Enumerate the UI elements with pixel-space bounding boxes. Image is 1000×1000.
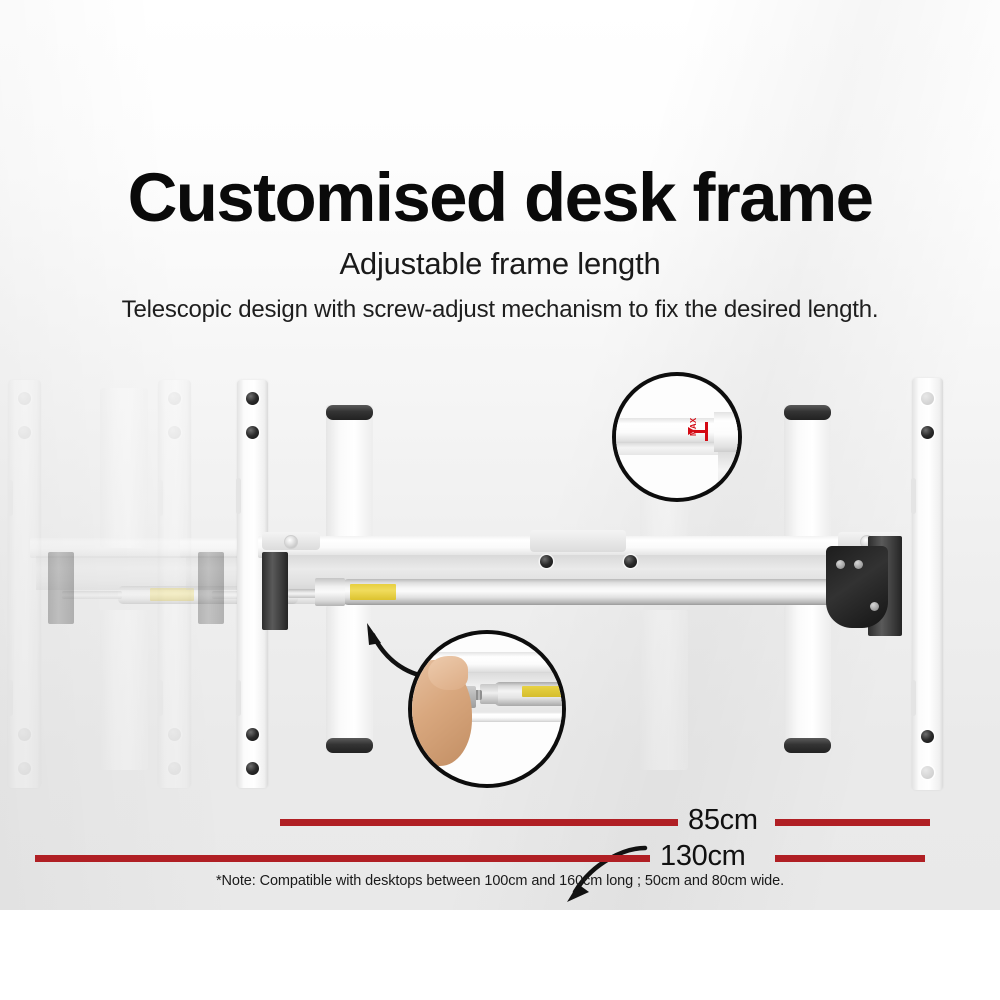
hinge-knuckle-center	[530, 530, 626, 552]
page-tagline: Telescopic design with screw-adjust mech…	[0, 298, 1000, 322]
compatibility-note: *Note: Compatible with desktops between …	[0, 873, 1000, 889]
detail-warning-label	[522, 686, 566, 697]
beam-bolt-right	[624, 555, 637, 568]
leg-top-right	[784, 405, 831, 553]
dimension-line-85-left	[280, 819, 678, 826]
callout-max-extension: MAX	[612, 372, 742, 502]
ghost-leg-4	[640, 610, 688, 770]
foot-pad-bottom-right	[784, 738, 831, 753]
dimension-label-85: 85cm	[688, 806, 758, 835]
max-tick-bar	[705, 422, 708, 441]
warning-label-yellow	[350, 584, 396, 600]
foot-pad-bottom-left	[326, 738, 373, 753]
foot-pad-top-right	[784, 405, 831, 420]
bracket-right	[912, 378, 943, 790]
end-plate-left	[262, 552, 288, 630]
white-footer-area	[0, 910, 1000, 1000]
dimension-label-130: 130cm	[660, 842, 746, 871]
hinge-knuckle-left	[262, 532, 320, 550]
tube-collar	[315, 578, 345, 606]
page-title: Customised desk frame	[0, 163, 1000, 232]
ghost-end-plate-1	[48, 552, 74, 624]
dimension-line-130-left	[35, 855, 650, 862]
ghost-end-plate-2	[198, 552, 224, 624]
product-marketing-image: Customised desk frame Adjustable frame l…	[0, 0, 1000, 1000]
leg-top-left	[326, 405, 373, 553]
leg-bottom-right	[784, 605, 831, 753]
dimension-line-130-right	[775, 855, 925, 862]
beam-bolt-left	[540, 555, 553, 568]
ghost-leg-2	[100, 610, 148, 770]
thumb	[428, 656, 468, 690]
max-arrow-shaft	[694, 430, 705, 433]
detail-adjust-nut	[480, 684, 498, 704]
page-subtitle: Adjustable frame length	[0, 248, 1000, 279]
ghost-leg-1	[100, 388, 148, 548]
callout-screw-adjust	[408, 630, 566, 788]
foot-pad-top-left	[326, 405, 373, 420]
max-arrow-head	[688, 427, 695, 435]
motor-gearbox	[826, 546, 888, 628]
dimension-line-85-right	[775, 819, 930, 826]
telescopic-tube	[343, 579, 833, 605]
